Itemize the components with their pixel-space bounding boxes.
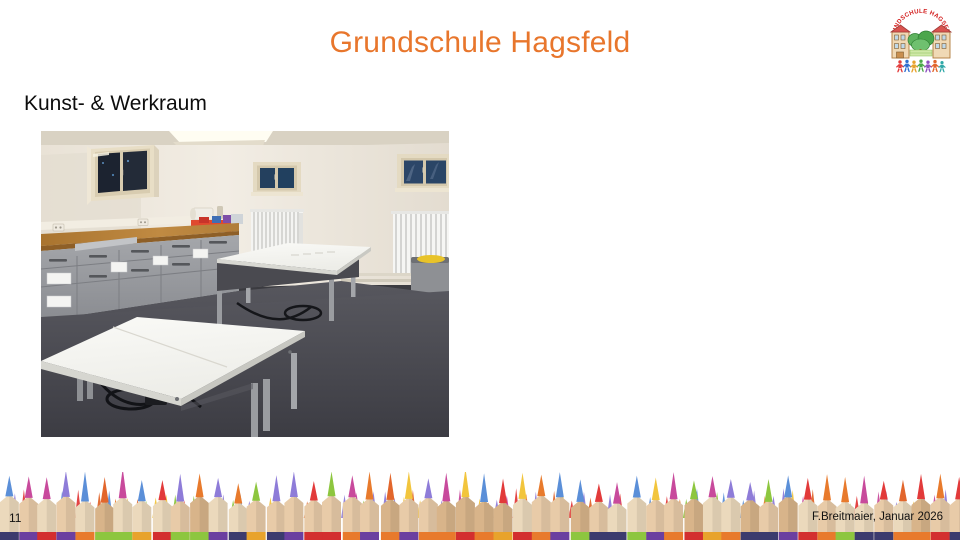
logo-building-right xyxy=(932,25,951,58)
logo-building-left xyxy=(891,25,910,58)
photo-window-center xyxy=(251,162,303,196)
kunst-werkraum-photo xyxy=(41,131,449,437)
school-logo: GRUNDSCHULE HAGSFELD xyxy=(886,2,956,76)
slide: Grundschule Hagsfeld Kunst- & Werkraum G… xyxy=(0,0,960,540)
logo-children xyxy=(896,60,946,73)
page-title: Grundschule Hagsfeld xyxy=(0,26,960,60)
slide-subtitle: Kunst- & Werkraum xyxy=(24,91,207,117)
logo-trees xyxy=(908,31,934,56)
photo-window-right xyxy=(395,154,449,192)
page-number: 11 xyxy=(9,511,21,525)
photo-window-left xyxy=(87,145,159,205)
colored-pencil-border xyxy=(0,472,960,540)
footer-credit: F.Breitmaier, Januar 2026 xyxy=(812,510,943,524)
